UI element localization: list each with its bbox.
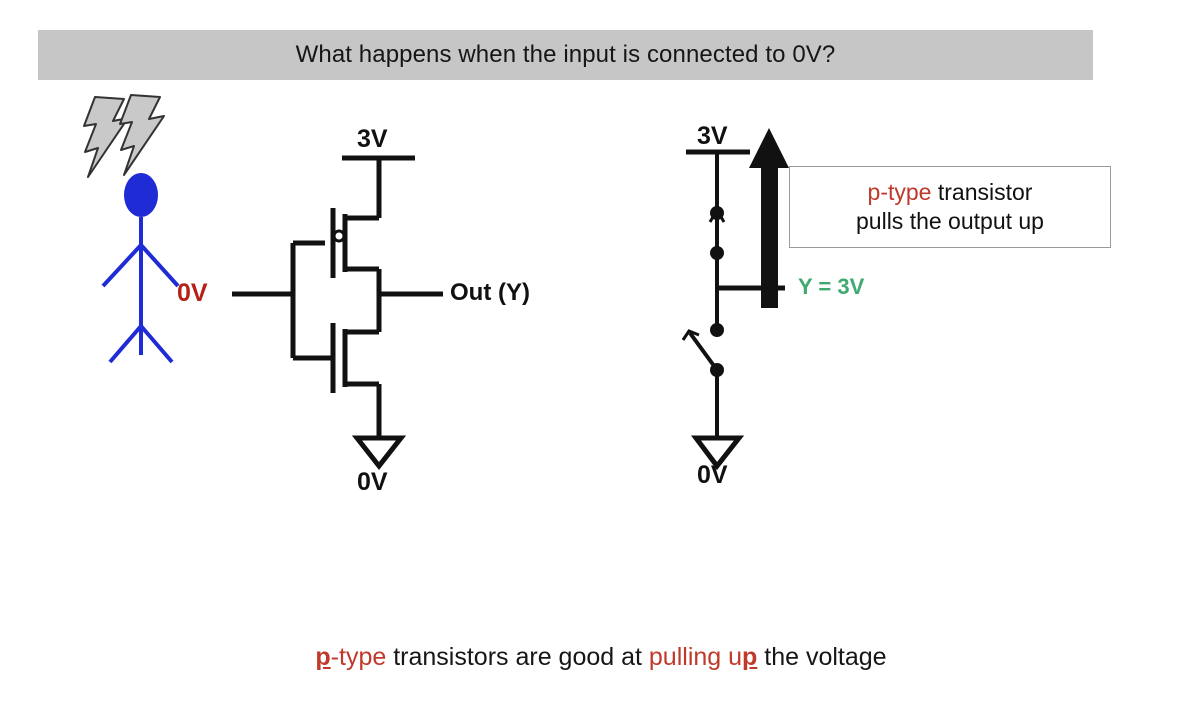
callout-box: p-type transistor pulls the output up [789,166,1111,248]
label-ground-right: 0V [697,463,728,488]
page-title: What happens when the input is connected… [296,41,836,69]
callout-line-2: pulls the output up [856,207,1044,236]
summary-caption: p-type transistors are good at pulling u… [0,643,1202,672]
switch-node-dot [710,246,724,260]
cmos-inverter-schematic [232,158,443,438]
label-input-voltage: 0V [177,281,208,306]
caption-end: the voltage [757,643,886,671]
figure-leg-left [110,326,141,362]
label-vdd-right: 3V [697,124,728,149]
caption-mid: transistors are good at [386,643,649,671]
bottom-switch-arrowhead [683,331,699,340]
callout-line-1: p-type transistor [868,178,1033,207]
top-switch-arrowhead [710,210,724,222]
label-vdd-left: 3V [357,127,388,152]
callout-highlight: p-type [868,179,932,205]
caption-type: -type [331,643,387,671]
diagram-canvas [0,0,1202,702]
label-output-value: Y = 3V [798,276,864,298]
label-output: Out (Y) [450,281,530,305]
question-title-bar: What happens when the input is connected… [38,30,1093,80]
switch-node-dot [710,206,724,220]
ground-symbol-left [357,438,401,466]
switch-node-dot [710,323,724,337]
pmos-gate-bubble-icon [334,231,344,241]
caption-key-p-1: p [315,643,330,671]
figure-head [124,173,158,217]
caption-key-p-2: p [742,643,757,671]
figure-leg-right [141,326,172,362]
lightning-bolt-icon [120,95,164,175]
bottom-switch-blade [690,333,717,370]
figure-arm-left [103,245,141,286]
lightning-bolt-icon [84,97,128,177]
pull-up-arrow-icon [749,128,789,308]
stick-figure [84,95,178,362]
switch-equivalent-model [683,152,785,438]
caption-pulling-up: pulling u [649,643,742,671]
switch-node-dot [710,363,724,377]
label-ground-left: 0V [357,470,388,495]
figure-arm-right [141,245,178,286]
callout-rest: transistor [931,179,1032,205]
